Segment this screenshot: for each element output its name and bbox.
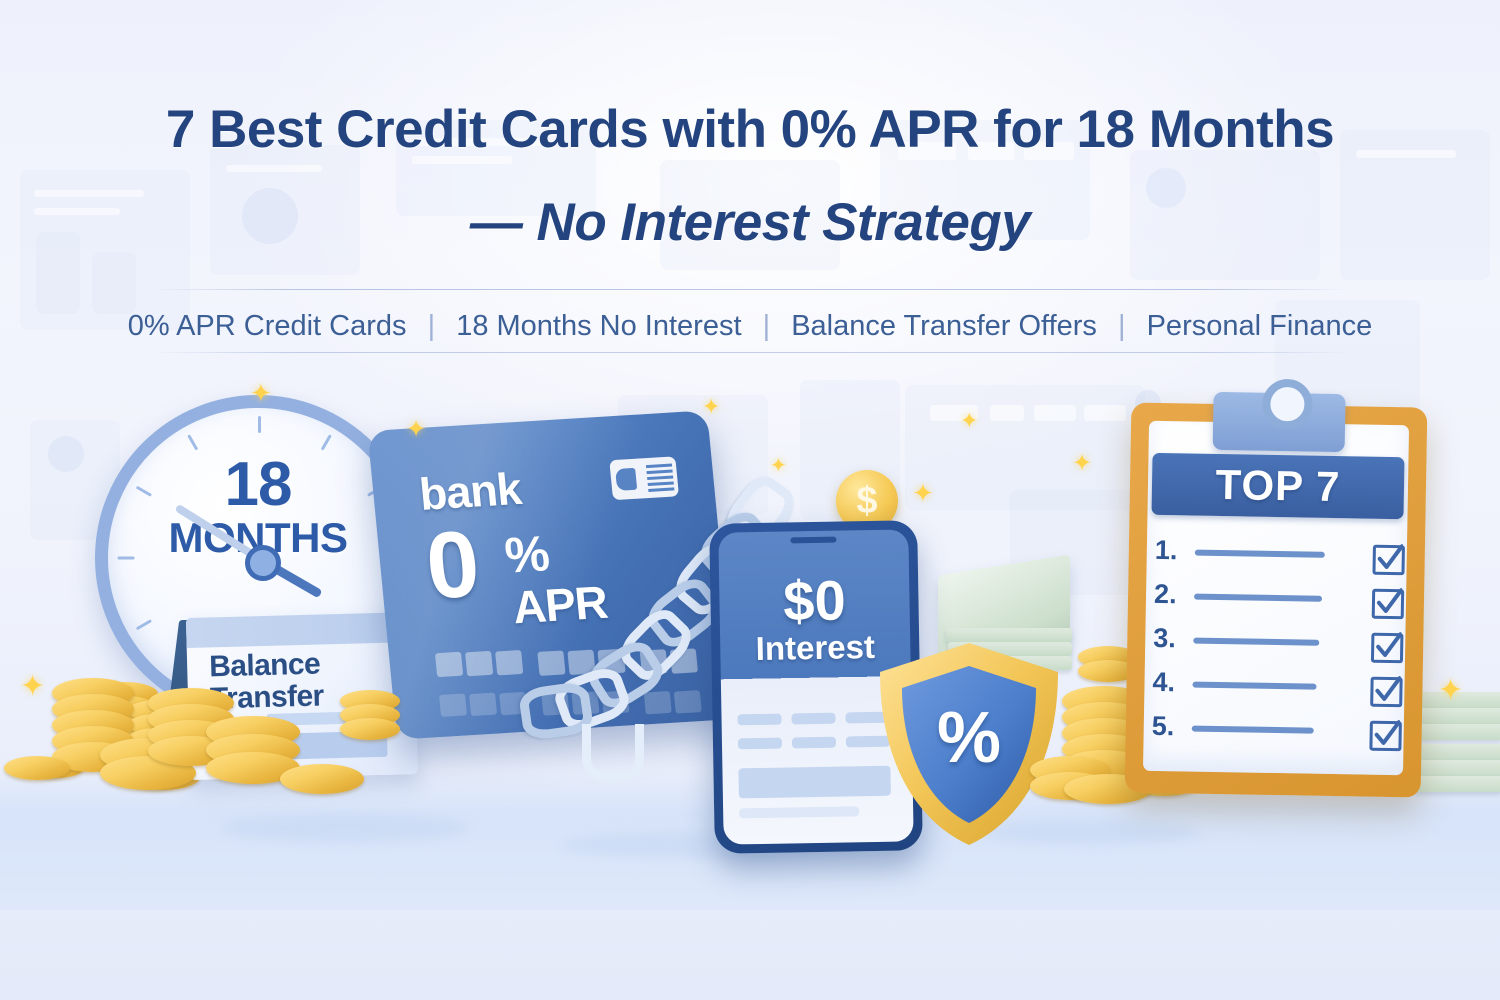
broken-chain-link [582, 724, 644, 781]
sparkle-icon: ✦ [960, 410, 978, 432]
list-item-line [1195, 550, 1325, 558]
list-item-line [1192, 682, 1316, 690]
hero-banner: 7 Best Credit Cards with 0% APR for 18 M… [0, 0, 1500, 1000]
tag-18-months-no-interest[interactable]: 18 Months No Interest [456, 310, 741, 342]
tag-balance-transfer-offers[interactable]: Balance Transfer Offers [791, 310, 1097, 342]
checkbox-icon[interactable] [1372, 589, 1405, 620]
sparkle-icon: ✦ [406, 418, 426, 442]
sparkle-icon: ✦ [20, 672, 45, 702]
list-item-line [1193, 638, 1319, 646]
illustration-scene: 18 MONTHS Balance [0, 360, 1500, 880]
sparkle-icon: ✦ [1072, 452, 1092, 476]
list-item-number: 2. [1154, 579, 1177, 609]
phone-amount: $0 [719, 571, 910, 630]
list-item-number: 5. [1152, 711, 1175, 741]
list-item-number: 1. [1155, 535, 1178, 565]
page-title-line-1: 7 Best Credit Cards with 0% APR for 18 M… [0, 99, 1500, 161]
phone-speaker [790, 537, 836, 544]
tag-0-apr-credit-cards[interactable]: 0% APR Credit Cards [128, 310, 407, 342]
tag-separator: | [1105, 310, 1139, 342]
tag-separator: | [750, 310, 784, 342]
clipboard-top-7: TOP 7 1. 2. 3. [1125, 402, 1428, 797]
checkbox-icon[interactable] [1372, 545, 1405, 576]
list-item[interactable]: 2. [1154, 583, 1405, 621]
card-rate-number: 0 [422, 517, 480, 614]
sparkle-icon: ✦ [702, 396, 720, 418]
header-divider-bottom [150, 352, 1350, 353]
list-item[interactable]: 3. [1153, 627, 1404, 665]
list-item[interactable]: 4. [1152, 671, 1403, 709]
sparkle-icon: ✦ [250, 380, 272, 406]
tag-personal-finance[interactable]: Personal Finance [1147, 310, 1373, 342]
shield-percent-badge: % [874, 640, 1064, 848]
clock-center-pin [245, 545, 281, 581]
list-item-line [1192, 726, 1314, 734]
list-item[interactable]: 1. [1154, 539, 1405, 577]
tag-bar: 0% APR Credit Cards | 18 Months No Inter… [0, 305, 1500, 347]
checkbox-icon[interactable] [1369, 721, 1402, 752]
clock-number: 18 [108, 456, 408, 514]
list-item[interactable]: 5. [1151, 715, 1402, 753]
tag-separator: | [415, 310, 449, 342]
list-item-number: 4. [1152, 667, 1175, 697]
list-item-number: 3. [1153, 623, 1176, 653]
clipboard-header-banner: TOP 7 [1151, 453, 1404, 519]
page-title-line-2: — No Interest Strategy [0, 192, 1500, 254]
sparkle-icon: ✦ [770, 456, 787, 476]
checkbox-icon[interactable] [1370, 677, 1403, 708]
placard-line-1: Balance [209, 648, 323, 683]
list-item-line [1194, 594, 1322, 602]
sparkle-icon: ✦ [1438, 676, 1463, 706]
clipboard-header-text: TOP 7 [1151, 453, 1404, 519]
header-divider-top [150, 289, 1350, 290]
sparkle-icon: ✦ [912, 480, 934, 506]
checkbox-icon[interactable] [1371, 633, 1404, 664]
placard-header-band [186, 612, 415, 648]
